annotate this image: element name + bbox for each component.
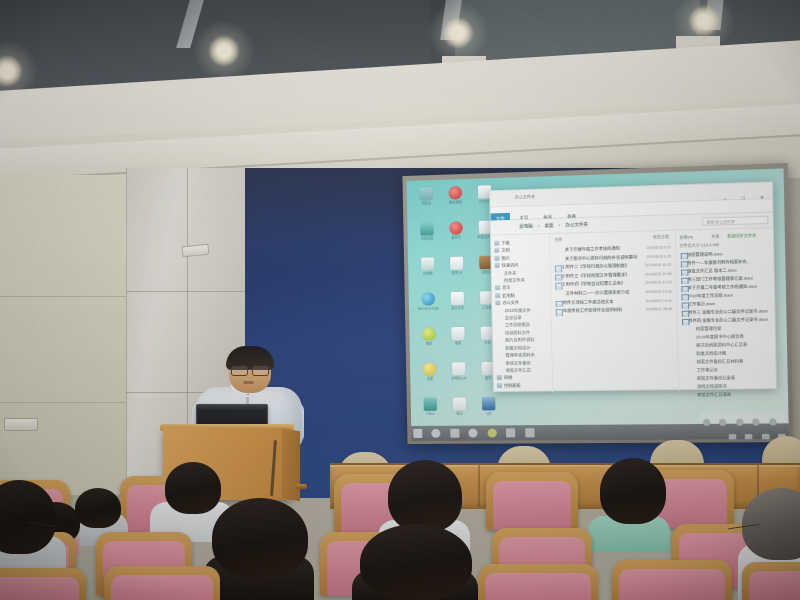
pdf-doc-icon[interactable]: 说明书.pdf xyxy=(444,361,474,392)
preview-col-share: 共享 xyxy=(711,234,719,239)
breadcrumb-mid[interactable]: 桌面 xyxy=(544,223,553,228)
icon-glyph xyxy=(422,292,435,305)
preview-row[interactable]: 审批文件汇总清单 xyxy=(682,390,774,399)
icon-glyph xyxy=(453,397,466,410)
icon-glyph xyxy=(449,221,462,234)
icon-caption: 腾讯视频 xyxy=(441,200,470,210)
attendee-head xyxy=(212,498,308,578)
file-row[interactable]: 年度考核工作安排作业说明材料2019/6/21 08:56 xyxy=(556,305,675,316)
nav-item[interactable]: 控制面板 xyxy=(497,381,550,389)
nav-item-icon xyxy=(495,293,500,298)
office-icon[interactable]: Office xyxy=(416,397,446,427)
seat-cushion xyxy=(493,481,571,530)
icon-glyph xyxy=(450,257,463,270)
cloud-disk-icon[interactable]: 百度网盘 xyxy=(412,221,442,252)
icon-caption: 此电脑 xyxy=(413,271,442,281)
auditorium-seat[interactable] xyxy=(478,564,598,600)
toolbar-icon[interactable] xyxy=(703,419,711,426)
seat-cushion xyxy=(485,573,591,600)
icon-caption: 百度网盘 xyxy=(413,236,442,246)
icon-caption: Microsoft Edge xyxy=(414,306,443,316)
text-file-icon[interactable]: 说明.txt xyxy=(442,255,472,286)
preview-rows: 流程管理说明.docx附件一—年度图书附件档案补充...审批文件汇总 版本二.d… xyxy=(680,249,775,400)
icon-caption: 笔记 xyxy=(445,411,474,420)
start-icon[interactable] xyxy=(413,429,422,438)
nav-item-icon xyxy=(495,300,500,305)
windows-taskbar[interactable] xyxy=(411,423,789,441)
file-name: 2 附件三《学校档案文件管理要求》 xyxy=(562,272,629,279)
task-view-icon[interactable] xyxy=(450,429,459,438)
presenter-mouth xyxy=(243,381,254,384)
floating-toolbar[interactable] xyxy=(699,412,787,423)
file-name: 关于开展年度工作考核的通知 xyxy=(565,245,620,251)
quick-access-toolbar[interactable]: 办公文件夹 xyxy=(515,194,536,201)
icon-glyph xyxy=(452,362,465,375)
preview-pane[interactable]: 名称(N) 共享 登录同步文件夹 文件总大小 213.4 MB 流程管理说明.d… xyxy=(675,228,776,391)
sync-account-label[interactable]: 登录同步文件夹 xyxy=(727,233,756,239)
file-name: 3 附件四《学校会议纪要汇总表》 xyxy=(562,281,625,287)
glasses-icon xyxy=(231,366,269,374)
icon-glyph xyxy=(420,222,433,235)
nav-item-icon xyxy=(494,248,499,253)
file-name: 文件材料二——办公管理系统介绍 xyxy=(566,289,630,295)
app-icon[interactable] xyxy=(525,428,534,437)
projection-screen[interactable]: 回收站腾讯视频工作文档百度网盘爱奇艺新建文件夹此电脑说明.txt压缩包Micro… xyxy=(407,168,789,441)
chrome-icon[interactable] xyxy=(487,428,496,437)
app-red-icon[interactable]: 腾讯视频 xyxy=(441,185,471,216)
ceiling-spotlight xyxy=(437,12,479,54)
auditorium-seat[interactable] xyxy=(486,472,578,530)
explorer-icon[interactable] xyxy=(506,428,515,437)
attendee-head xyxy=(165,462,221,514)
explorer-body: 下载文档图片快速访问文件夹档案文件夹音乐此电脑办公文件2019年度文件会议记录工… xyxy=(491,228,776,393)
document-icon xyxy=(556,309,563,316)
edge-icon[interactable] xyxy=(469,429,478,438)
attendee-head xyxy=(360,524,472,600)
glasses-left-lens xyxy=(231,366,248,376)
icon-glyph xyxy=(449,186,462,199)
seat-cushion xyxy=(111,575,213,600)
projection-screen-frame: 回收站腾讯视频工作文档百度网盘爱奇艺新建文件夹此电脑说明.txt压缩包Micro… xyxy=(402,163,793,444)
auditorium-seat[interactable] xyxy=(742,562,800,600)
attendee-head xyxy=(388,460,462,532)
auditorium-seat[interactable] xyxy=(0,568,86,600)
glasses-right-lens xyxy=(252,366,269,376)
app-green-icon[interactable]: 微信 xyxy=(414,326,444,357)
icon-glyph xyxy=(422,327,435,340)
conference-hall-photo: 回收站腾讯视频工作文档百度网盘爱奇艺新建文件夹此电脑说明.txt压缩包Micro… xyxy=(0,0,800,600)
file-name: 关于图书中心资料归档的补充说明事项 xyxy=(565,254,637,261)
preview-size-note: 文件总大小 213.4 MB xyxy=(679,241,771,250)
toolbar-icon[interactable] xyxy=(736,419,744,426)
list-column-headers[interactable]: 名称 修改日期 xyxy=(554,235,673,243)
wall-seam xyxy=(0,296,128,297)
note-icon[interactable]: 笔记 xyxy=(445,396,475,426)
icon-caption: 迅雷 xyxy=(415,377,444,386)
icon-glyph xyxy=(424,398,437,411)
icon-glyph xyxy=(451,292,464,305)
preview-col-name: 名称(N) xyxy=(679,234,693,240)
nav-item-icon xyxy=(494,240,499,245)
file-name: 1 附件二《学校行政办公管理制度》 xyxy=(562,263,629,270)
app-yellow-icon[interactable]: 迅雷 xyxy=(415,361,445,391)
seat-cushion xyxy=(0,577,79,600)
breadcrumb-root[interactable]: 此电脑 xyxy=(519,223,533,228)
seat-cushion xyxy=(749,571,800,600)
blue-app-icon[interactable]: QQ xyxy=(474,396,504,427)
icon-glyph xyxy=(420,187,433,200)
icon-caption: 微信 xyxy=(415,341,444,350)
file-name: 附件五流程二年度总结文本 xyxy=(563,298,614,304)
ceiling-spotlight xyxy=(203,30,245,72)
wall-outlet xyxy=(4,418,38,431)
nav-item-icon xyxy=(495,263,500,268)
nav-item-icon xyxy=(494,255,499,260)
file-rows: 关于开展年度工作考核的通知2019/6/18 9:21关于图书中心资料归档的补充… xyxy=(554,243,674,316)
icon-glyph xyxy=(451,327,464,340)
computer-icon[interactable]: 此电脑 xyxy=(413,256,443,287)
ceiling-spotlight xyxy=(0,50,28,92)
seat-cushion xyxy=(619,569,725,600)
column-name[interactable]: 名称 xyxy=(554,238,562,242)
icon-glyph xyxy=(482,397,495,410)
toolbar-icon[interactable] xyxy=(752,418,760,425)
auditorium-seat[interactable] xyxy=(612,560,732,600)
attendee-head xyxy=(600,458,666,524)
navigation-pane[interactable]: 下载文档图片快速访问文件夹档案文件夹音乐此电脑办公文件2019年度文件会议记录工… xyxy=(491,234,553,393)
edge-browser-icon[interactable]: Microsoft Edge xyxy=(414,291,444,322)
icon-caption: 会议记录 xyxy=(443,306,472,316)
icon-glyph xyxy=(423,363,436,376)
breadcrumb-leaf[interactable]: 办公文件夹 xyxy=(565,222,588,228)
toolbar-icon[interactable] xyxy=(769,418,777,425)
auditorium-seat[interactable] xyxy=(104,566,220,600)
icon-caption: QQ xyxy=(474,411,504,420)
report-icon[interactable]: 报告 xyxy=(443,326,473,357)
icon-caption: 说明.txt xyxy=(442,270,471,280)
recycle-bin-icon[interactable]: 回收站 xyxy=(412,186,442,217)
column-date[interactable]: 修改日期 xyxy=(653,235,669,241)
toolbar-icon[interactable] xyxy=(719,419,727,426)
nav-item-icon xyxy=(495,285,500,290)
file-explorer-window[interactable]: 办公文件夹 – □ ✕ 文件 主页 共享 查看 此电脑›桌面›办公文件夹 xyxy=(489,181,777,392)
search-icon[interactable] xyxy=(432,429,441,438)
icon-caption: 回收站 xyxy=(412,201,441,211)
icon-caption: 爱奇艺 xyxy=(442,235,471,245)
attendee-head xyxy=(75,488,121,528)
icon-glyph xyxy=(421,257,434,270)
icon-caption: 说明书.pdf xyxy=(444,376,473,385)
icon-caption: 报告 xyxy=(444,341,473,350)
app-red2-icon[interactable]: 爱奇艺 xyxy=(441,220,471,251)
nav-item-icon xyxy=(497,375,502,380)
file-list-pane[interactable]: 名称 修改日期 关于开展年度工作考核的通知2019/6/18 9:21关于图书中… xyxy=(550,231,678,393)
nav-item-icon xyxy=(497,383,502,388)
icon-caption: Office xyxy=(416,412,445,421)
file-name: 年度考核工作安排作业说明材料 xyxy=(563,307,622,313)
word-doc-icon[interactable]: 会议记录 xyxy=(443,291,473,322)
wall-seam xyxy=(0,402,128,403)
file-date: 2019/6/21 08:56 xyxy=(646,305,673,314)
preview-header: 名称(N) 共享 登录同步文件夹 xyxy=(679,232,771,241)
seated-audience xyxy=(0,440,800,600)
